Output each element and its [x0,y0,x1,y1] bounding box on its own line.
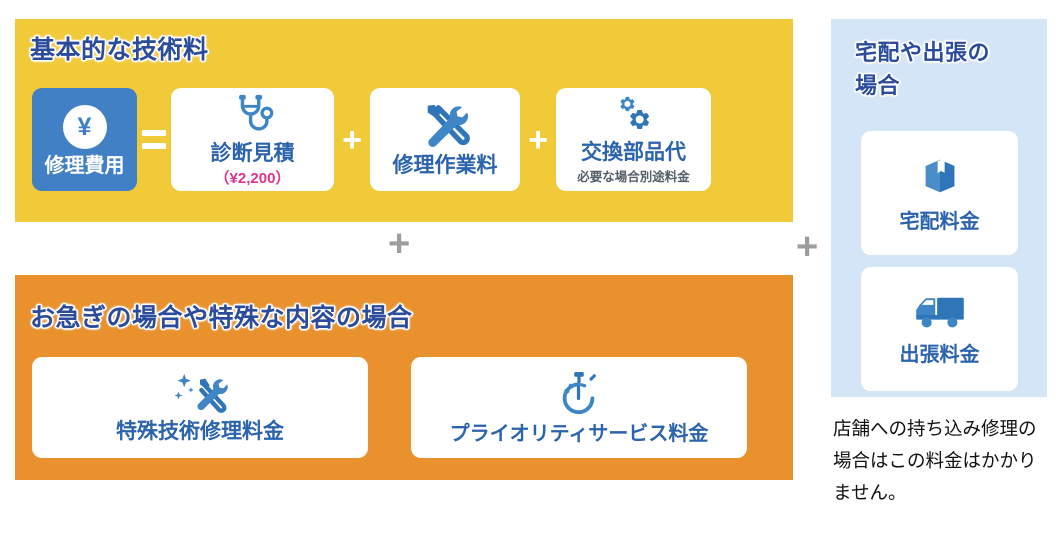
stethoscope-icon [230,91,276,142]
sparkle-tools-icon [171,371,229,420]
repair-cost-card[interactable]: ¥ 修理費用 [32,88,137,191]
gears-icon [610,94,658,141]
plus-connector-right: + [796,228,818,266]
delivery-visit-title: 宅配や出張の 場合 [855,36,990,102]
delivery-fee-label: 宅配料金 [900,211,980,233]
equals-operator [137,130,171,149]
onsite-visit-fee-card[interactable]: 出張料金 [861,267,1018,391]
basic-fee-formula-row: ¥ 修理費用 診断見積 （¥2,200） + [32,88,711,191]
truck-icon [913,292,967,337]
stopwatch-icon [556,370,602,423]
repair-labor-card[interactable]: 修理作業料 [370,88,520,191]
diagnosis-estimate-card[interactable]: 診断見積 （¥2,200） [171,88,334,191]
special-repair-fee-label: 特殊技術修理料金 [116,420,284,444]
priority-service-fee-card[interactable]: プライオリティサービス料金 [411,357,747,458]
basic-fee-title: 基本的な技術料 [30,30,209,66]
repair-cost-label: 修理費用 [45,155,125,177]
plus-connector-middle: + [388,225,410,263]
pricing-diagram: 基本的な技術料 ¥ 修理費用 [0,0,1062,554]
delivery-note-text: 店舗への持ち込み修理の場合はこの料金はかかりません。 [833,413,1039,508]
priority-service-fee-label: プライオリティサービス料金 [450,423,709,445]
diagnosis-estimate-price: （¥2,200） [215,167,291,188]
onsite-visit-fee-label: 出張料金 [900,344,980,366]
replacement-parts-card[interactable]: 交換部品代 必要な場合別途料金 [556,88,711,191]
urgent-special-title: お急ぎの場合や特殊な内容の場合 [30,298,413,334]
replacement-parts-label: 交換部品代 [581,141,686,165]
yen-circle-icon: ¥ [63,105,107,149]
plus-operator-2: + [520,123,556,157]
diagnosis-estimate-label: 診断見積 [211,142,295,166]
special-repair-fee-card[interactable]: 特殊技術修理料金 [32,357,368,458]
urgent-special-card-row: 特殊技術修理料金 プライオリティサービス料金 [32,357,747,458]
plus-operator-1: + [334,123,370,157]
replacement-parts-note: 必要な場合別途料金 [577,166,690,185]
yen-symbol: ¥ [78,115,92,140]
wrench-screwdriver-icon [420,101,470,154]
repair-labor-label: 修理作業料 [393,154,498,178]
delivery-fee-card[interactable]: 宅配料金 [861,131,1018,255]
package-box-icon [917,153,963,204]
